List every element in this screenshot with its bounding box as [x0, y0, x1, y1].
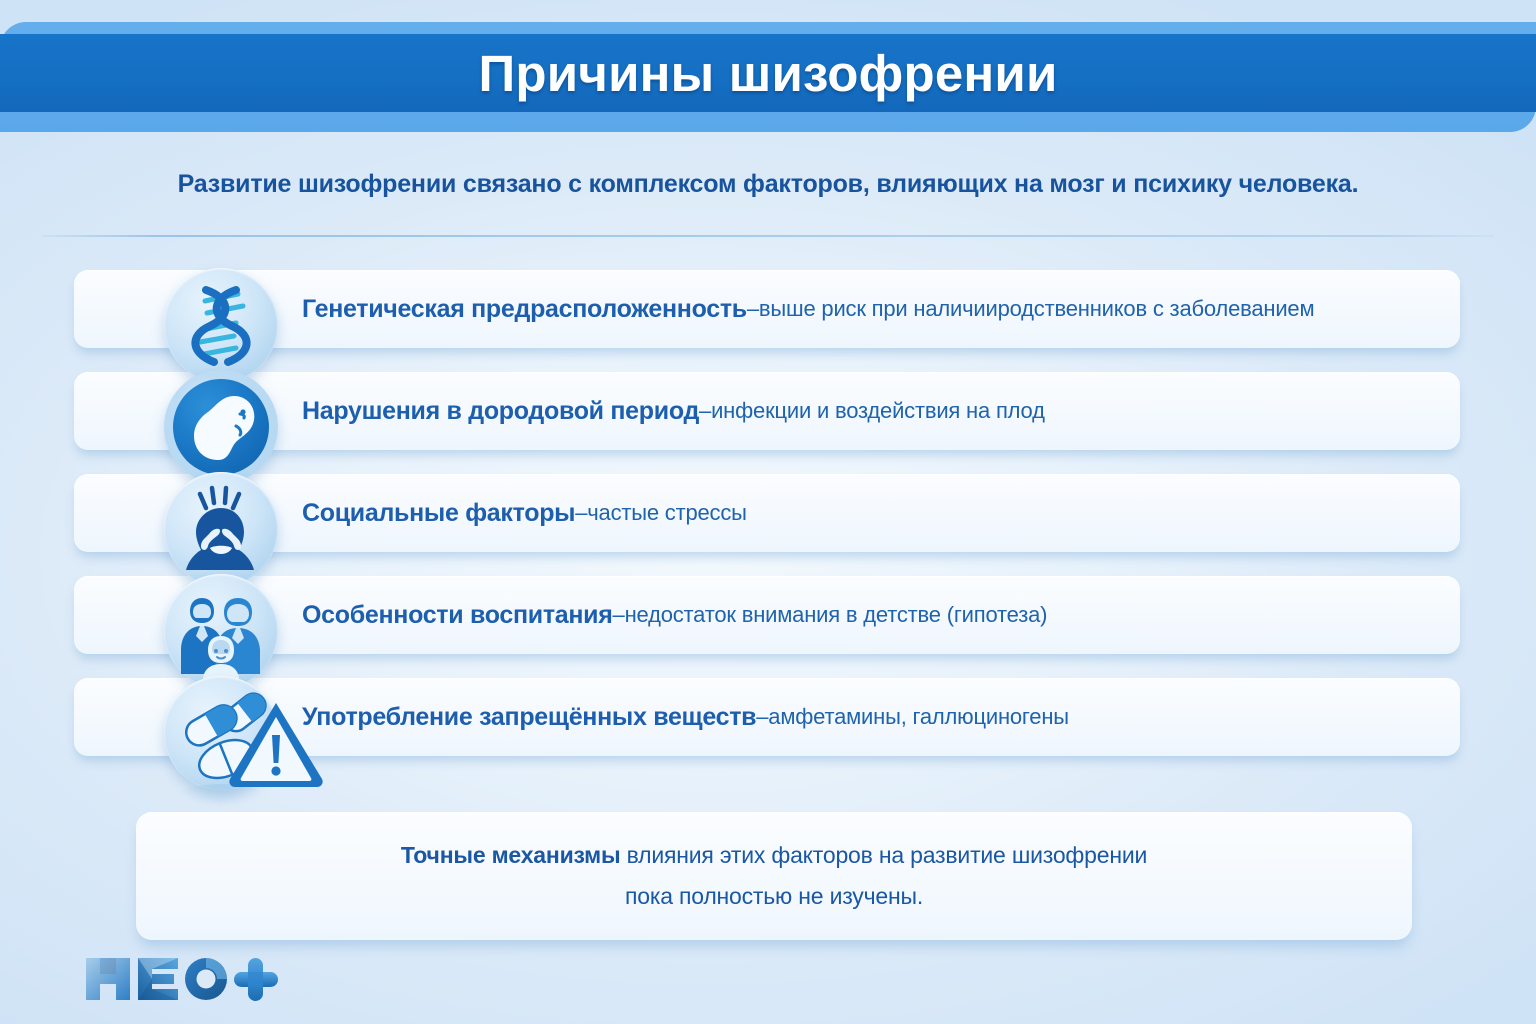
- factor-text-4: Особенности воспитания – недостаток вним…: [302, 576, 1432, 654]
- factor-dash-1: –: [747, 296, 759, 322]
- conclusion-line-1-rest: влияния этих факторов на развитие шизофр…: [620, 842, 1147, 868]
- factor-lead-2: Нарушения в дородовой период: [302, 397, 699, 426]
- pills-warning-icon: [164, 676, 278, 790]
- factor-dash-3: –: [575, 500, 587, 526]
- factor-lead-4: Особенности воспитания: [302, 601, 613, 630]
- factor-rest-2: инфекции и воздействия на плод: [711, 398, 1045, 424]
- factor-text-3: Социальные факторы – частые стрессы: [302, 474, 1432, 552]
- conclusion-line-1: Точные механизмы влияния этих факторов н…: [401, 842, 1147, 869]
- factor-lead-1: Генетическая предрасположенность: [302, 295, 747, 324]
- factor-lead-3: Социальные факторы: [302, 499, 575, 528]
- neo-plus-logo: [82, 948, 282, 1006]
- dna-helix-icon: [164, 268, 278, 382]
- family-icon: [164, 574, 278, 688]
- factor-rest-5: амфетамины, галлюциногены: [768, 704, 1069, 730]
- stressed-head-icon: [164, 472, 278, 586]
- factor-lead-5: Употребление запрещённых веществ: [302, 703, 756, 732]
- conclusion-line-2: пока полностью не изучены.: [625, 883, 923, 910]
- factor-rest-3: частые стрессы: [587, 500, 747, 526]
- factor-rest-emphasis-1: родственников с заболеванием: [998, 296, 1315, 322]
- factor-dash-2: –: [699, 398, 711, 424]
- factor-text-2: Нарушения в дородовой период – инфекции …: [302, 372, 1432, 450]
- fetus-icon: [164, 370, 278, 484]
- factor-text-5: Употребление запрещённых веществ – амфет…: [302, 678, 1432, 756]
- infographic-canvas: Причины шизофрении Развитие шизофрении с…: [0, 0, 1536, 1024]
- factor-text-1: Генетическая предрасположенность – выше …: [302, 270, 1432, 348]
- factor-rest-4: недостаток внимания в детстве (гипотеза): [625, 602, 1048, 628]
- factor-dash-5: –: [756, 704, 768, 730]
- conclusion-box: Точные механизмы влияния этих факторов н…: [136, 812, 1412, 940]
- factor-dash-4: –: [613, 602, 625, 628]
- conclusion-strong: Точные механизмы: [401, 842, 621, 868]
- factor-rest-1: выше риск при наличии: [759, 296, 998, 322]
